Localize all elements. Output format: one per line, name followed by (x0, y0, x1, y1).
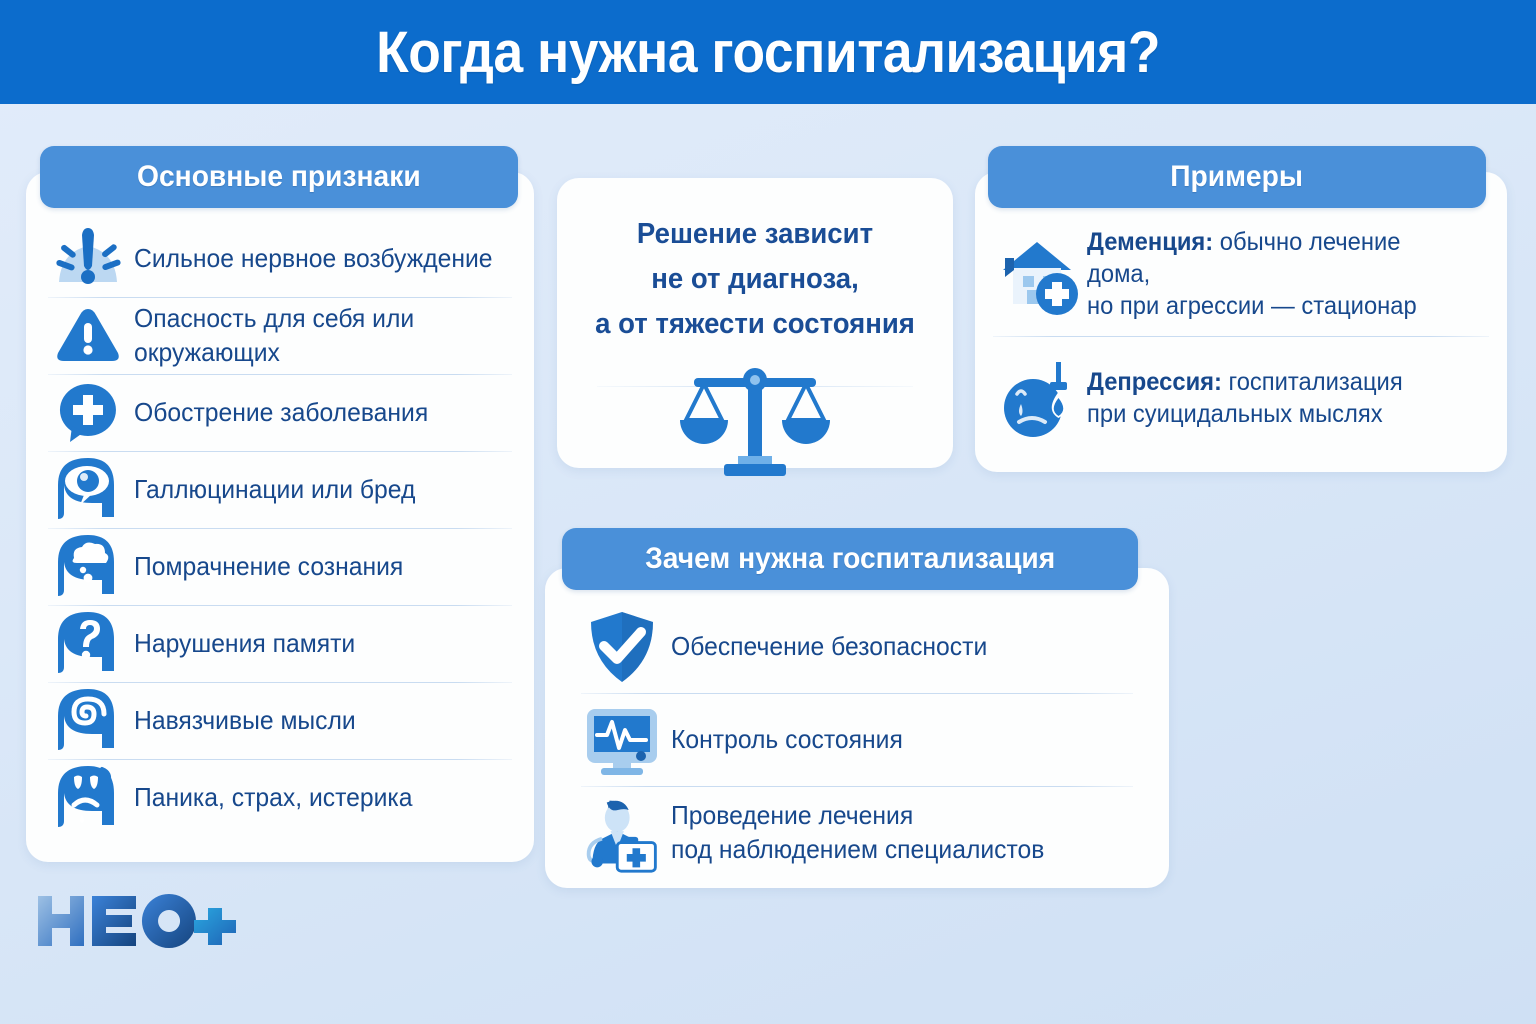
list-item-label: Проведение лечения под наблюдением специ… (671, 799, 1044, 866)
doctor-bag-icon (581, 791, 663, 875)
warning-triangle-icon (48, 301, 128, 371)
why-panel-header: Зачем нужна госпитализация (562, 528, 1138, 590)
decision-line-1: Решение зависит (567, 212, 943, 257)
list-item-label: Сильное нервное возбуждение (134, 242, 493, 275)
example-rest-line2: но при агрессии — стационар (1087, 290, 1469, 322)
page-title: Когда нужна госпитализация? (376, 19, 1160, 86)
signs-panel-title: Основные признаки (137, 160, 421, 194)
list-item[interactable]: Проведение лечения под наблюдением специ… (581, 786, 1133, 879)
sad-face-teardrop-icon (993, 348, 1085, 448)
list-item[interactable]: Контроль состояния (581, 693, 1133, 786)
decision-statement: Решение зависит не от диагноза, а от тяж… (567, 212, 943, 347)
head-cloud-icon (48, 532, 128, 602)
house-medical-cross-icon (993, 224, 1085, 324)
list-item[interactable]: Нарушения памяти (48, 605, 512, 682)
head-sad-face-icon (48, 763, 128, 833)
list-item-label: Депрессия: госпитализация при суицидальн… (1087, 366, 1403, 430)
list-item-label: Навязчивые мысли (134, 704, 356, 737)
list-item[interactable]: Сильное нервное возбуждение (48, 220, 512, 297)
head-question-icon (48, 609, 128, 679)
list-item-label: Паника, страх, истерика (134, 781, 412, 814)
list-item-label: Помрачнение сознания (134, 550, 403, 583)
medical-cross-bubble-icon (48, 378, 128, 448)
list-item[interactable]: Галлюцинации или бред (48, 451, 512, 528)
list-item[interactable]: Навязчивые мысли (48, 682, 512, 759)
list-item-label: Обеспечение безопасности (671, 630, 987, 663)
decision-line-2: не от диагноза, (567, 257, 943, 302)
shield-check-icon (581, 605, 663, 689)
list-item[interactable]: Паника, страх, истерика (48, 759, 512, 836)
example-lead: Деменция: (1087, 228, 1213, 256)
signs-panel-header: Основные признаки (40, 146, 518, 208)
list-item[interactable]: Помрачнение сознания (48, 528, 512, 605)
signs-list: Сильное нервное возбуждение Опасность дл… (26, 220, 534, 836)
why-line-2: под наблюдением специалистов (671, 833, 1044, 866)
head-spiral-icon (48, 686, 128, 756)
list-item[interactable]: Опасность для себя или окружающих (48, 297, 512, 374)
examples-panel-header: Примеры (988, 146, 1486, 208)
list-item-label: Галлюцинации или бред (134, 473, 415, 506)
ecg-monitor-icon (581, 698, 663, 782)
list-item-label: Обострение заболевания (134, 396, 428, 429)
why-panel-title: Зачем нужна госпитализация (645, 542, 1055, 576)
examples-panel-title: Примеры (1171, 160, 1304, 194)
why-line-1: Проведение лечения (671, 799, 1044, 832)
example-rest: госпитализация (1222, 368, 1403, 396)
example-lead: Депрессия: (1087, 368, 1222, 396)
example-rest-line2: при суицидальных мыслях (1087, 398, 1403, 430)
decision-line-3: а от тяжести состояния (567, 302, 943, 347)
list-item-label: Контроль состояния (671, 723, 903, 756)
examples-list: Деменция: обычно лечение дома, но при аг… (975, 212, 1507, 460)
list-item-label: Опасность для себя или окружающих (134, 302, 493, 369)
list-item[interactable]: Обострение заболевания (48, 374, 512, 451)
why-list: Обеспечение безопасности Контроль состоя… (545, 600, 1169, 879)
header-band: Когда нужна госпитализация? (0, 0, 1536, 104)
exclamation-burst-icon (48, 224, 128, 294)
brand-logo: НЕО+ (36, 890, 246, 952)
list-item[interactable]: Обеспечение безопасности (581, 600, 1133, 693)
head-eye-bubble-icon (48, 455, 128, 525)
list-item-label: Деменция: обычно лечение дома, но при аг… (1087, 226, 1469, 322)
list-item[interactable]: Деменция: обычно лечение дома, но при аг… (993, 212, 1489, 336)
list-item-label: Нарушения памяти (134, 627, 355, 660)
list-item[interactable]: Депрессия: госпитализация при суицидальн… (993, 336, 1489, 460)
balance-scales-icon (672, 358, 838, 478)
